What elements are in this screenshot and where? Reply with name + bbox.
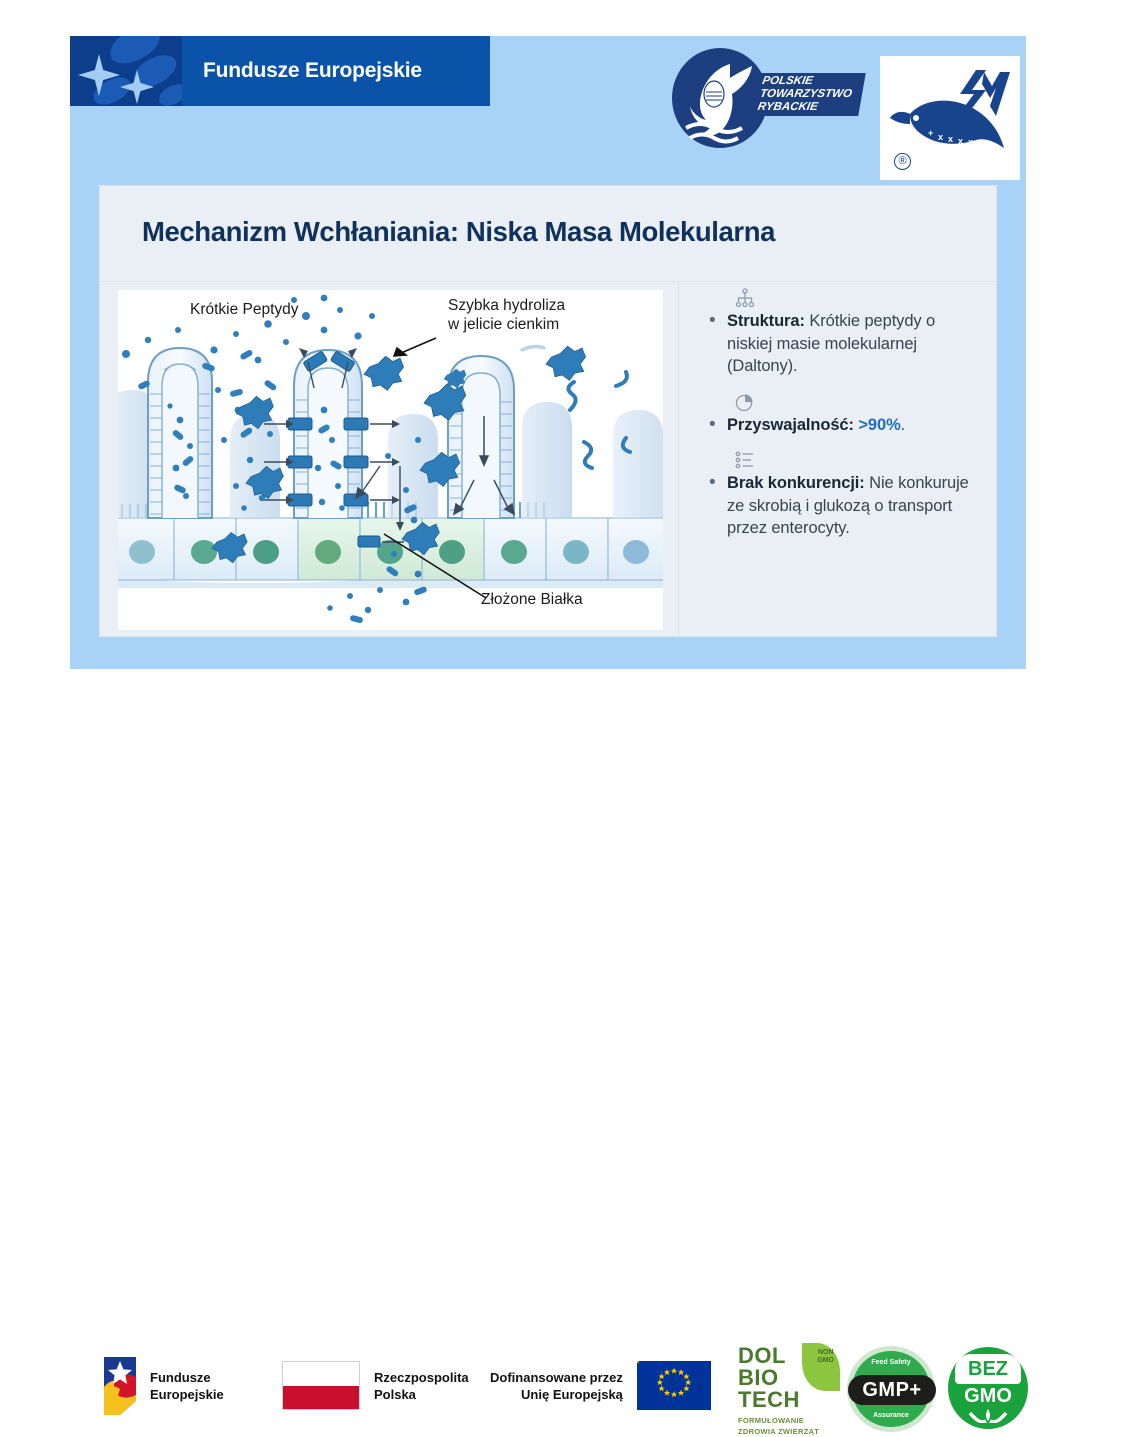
- poland-flag-icon: [282, 1361, 360, 1410]
- hierarchy-icon: [735, 288, 972, 310]
- label-short-peptides: Krótkie Peptydy: [190, 300, 299, 319]
- bullet-bioavailability: • Przyswajalność: >90%.: [707, 392, 972, 437]
- bullet-label: Przyswajalność:: [727, 416, 854, 434]
- bullet-dot: •: [707, 472, 727, 540]
- bullet-label: Brak konkurencji:: [727, 474, 865, 492]
- banner-label: Fundusze Europejskie: [203, 36, 422, 106]
- page-title: Mechanizm Wchłaniania: Niska Masa Moleku…: [142, 216, 775, 248]
- pzw-logo: +xx xxx ®: [880, 56, 1020, 180]
- footer-bez-gmo-logo: BEZ GMO: [948, 1347, 1028, 1429]
- bullet-structure: • Struktura: Krótkie peptydy o niskiej m…: [707, 288, 972, 378]
- fundusze-europejskie-banner: Fundusze Europejskie: [70, 36, 490, 106]
- polskie-towarzystwo-rybackie-logo: POLSKIE TOWARZYSTWO RYBACKIE: [672, 48, 882, 148]
- intestinal-villi-absorption-diagram: Krótkie Peptydy Szybka hydroliza w jelic…: [118, 290, 663, 630]
- svg-text:x: x: [978, 138, 983, 148]
- svg-text:x: x: [968, 137, 973, 147]
- ptr-wordmark: POLSKIE TOWARZYSTWO RYBACKIE: [752, 73, 865, 116]
- banner-stars-block: [70, 36, 182, 106]
- label-complex-proteins: Złożone Białka: [481, 590, 583, 609]
- registered-mark-icon: ®: [894, 153, 911, 170]
- illustration-column: Krótkie Peptydy Szybka hydroliza w jelic…: [100, 282, 678, 636]
- gmp-arc-bottom: Assurance: [852, 1412, 930, 1419]
- label-fast-hydrolysis: Szybka hydroliza w jelicie cienkim: [448, 296, 565, 334]
- svg-text:x: x: [948, 134, 953, 144]
- svg-text:+: +: [928, 128, 933, 138]
- footer-eu-logo: Dofinansowane przez Unię Europejską: [490, 1361, 711, 1410]
- svg-text:x: x: [958, 136, 963, 146]
- dolbiotech-tagline: FORMUŁOWANIE ZDROWIA ZWIERZĄT: [738, 1415, 836, 1437]
- bullet-body: .: [901, 416, 905, 434]
- bullet-dot: •: [707, 414, 727, 437]
- footer-fundusze-europejskie-logo: Fundusze Europejskie: [100, 1357, 224, 1415]
- footer-eu-label: Dofinansowane przez Unię Europejską: [490, 1369, 623, 1403]
- gmp-wordmark: GMP+: [848, 1375, 936, 1405]
- villi-svg: [118, 290, 663, 630]
- bullet-label: Struktura:: [727, 312, 805, 330]
- gmp-arc-top: Feed Safety: [852, 1359, 930, 1366]
- bez-wordmark: BEZ: [955, 1354, 1021, 1384]
- bullet-dot: •: [707, 310, 727, 378]
- footer-dolbiotech-logo: NON GMO DOL BIO TECH FORMUŁOWANIE ZDROWI…: [738, 1345, 836, 1437]
- pie-chart-icon: [735, 392, 972, 414]
- funding-footer: Fundusze Europejskie Rzeczpospolita Pols…: [0, 669, 1121, 793]
- sprout-icon: [968, 1407, 1008, 1423]
- footer-poland-logo: Rzeczpospolita Polska: [282, 1361, 469, 1410]
- footer-fe-label: Fundusze Europejskie: [150, 1369, 224, 1403]
- slide-canvas: Fundusze Europejskie POLSKIE TOWARZYSTWO…: [70, 36, 1026, 669]
- bullet-text: Brak konkurencji: Nie konkuruje ze skrob…: [727, 472, 972, 540]
- card-body: Krótkie Peptydy Szybka hydroliza w jelic…: [100, 281, 996, 636]
- bullet-text: Struktura: Krótkie peptydy o niskiej mas…: [727, 310, 972, 378]
- footer-pl-label: Rzeczpospolita Polska: [374, 1369, 469, 1403]
- eu-flag-icon: [637, 1361, 711, 1410]
- bullet-text: Przyswajalność: >90%.: [727, 414, 905, 437]
- bullet-no-competition: • Brak konkurencji: Nie konkuruje ze skr…: [707, 450, 972, 540]
- fish-icon: [672, 48, 768, 148]
- dolbiotech-line3: TECH: [738, 1389, 836, 1411]
- gmo-wordmark: GMO: [948, 1385, 1028, 1408]
- bullet-accent-value: >90%: [858, 416, 900, 434]
- svg-text:x: x: [938, 132, 943, 142]
- fe-emblem-icon: [100, 1357, 140, 1415]
- footer-gmp-plus-logo: Feed Safety Assurance GMP+: [848, 1349, 936, 1429]
- key-points-panel: • Struktura: Krótkie peptydy o niskiej m…: [678, 282, 996, 636]
- list-icon: [735, 450, 972, 472]
- content-card: Mechanizm Wchłaniania: Niska Masa Moleku…: [100, 186, 996, 636]
- non-gmo-badge: NON GMO: [817, 1349, 834, 1365]
